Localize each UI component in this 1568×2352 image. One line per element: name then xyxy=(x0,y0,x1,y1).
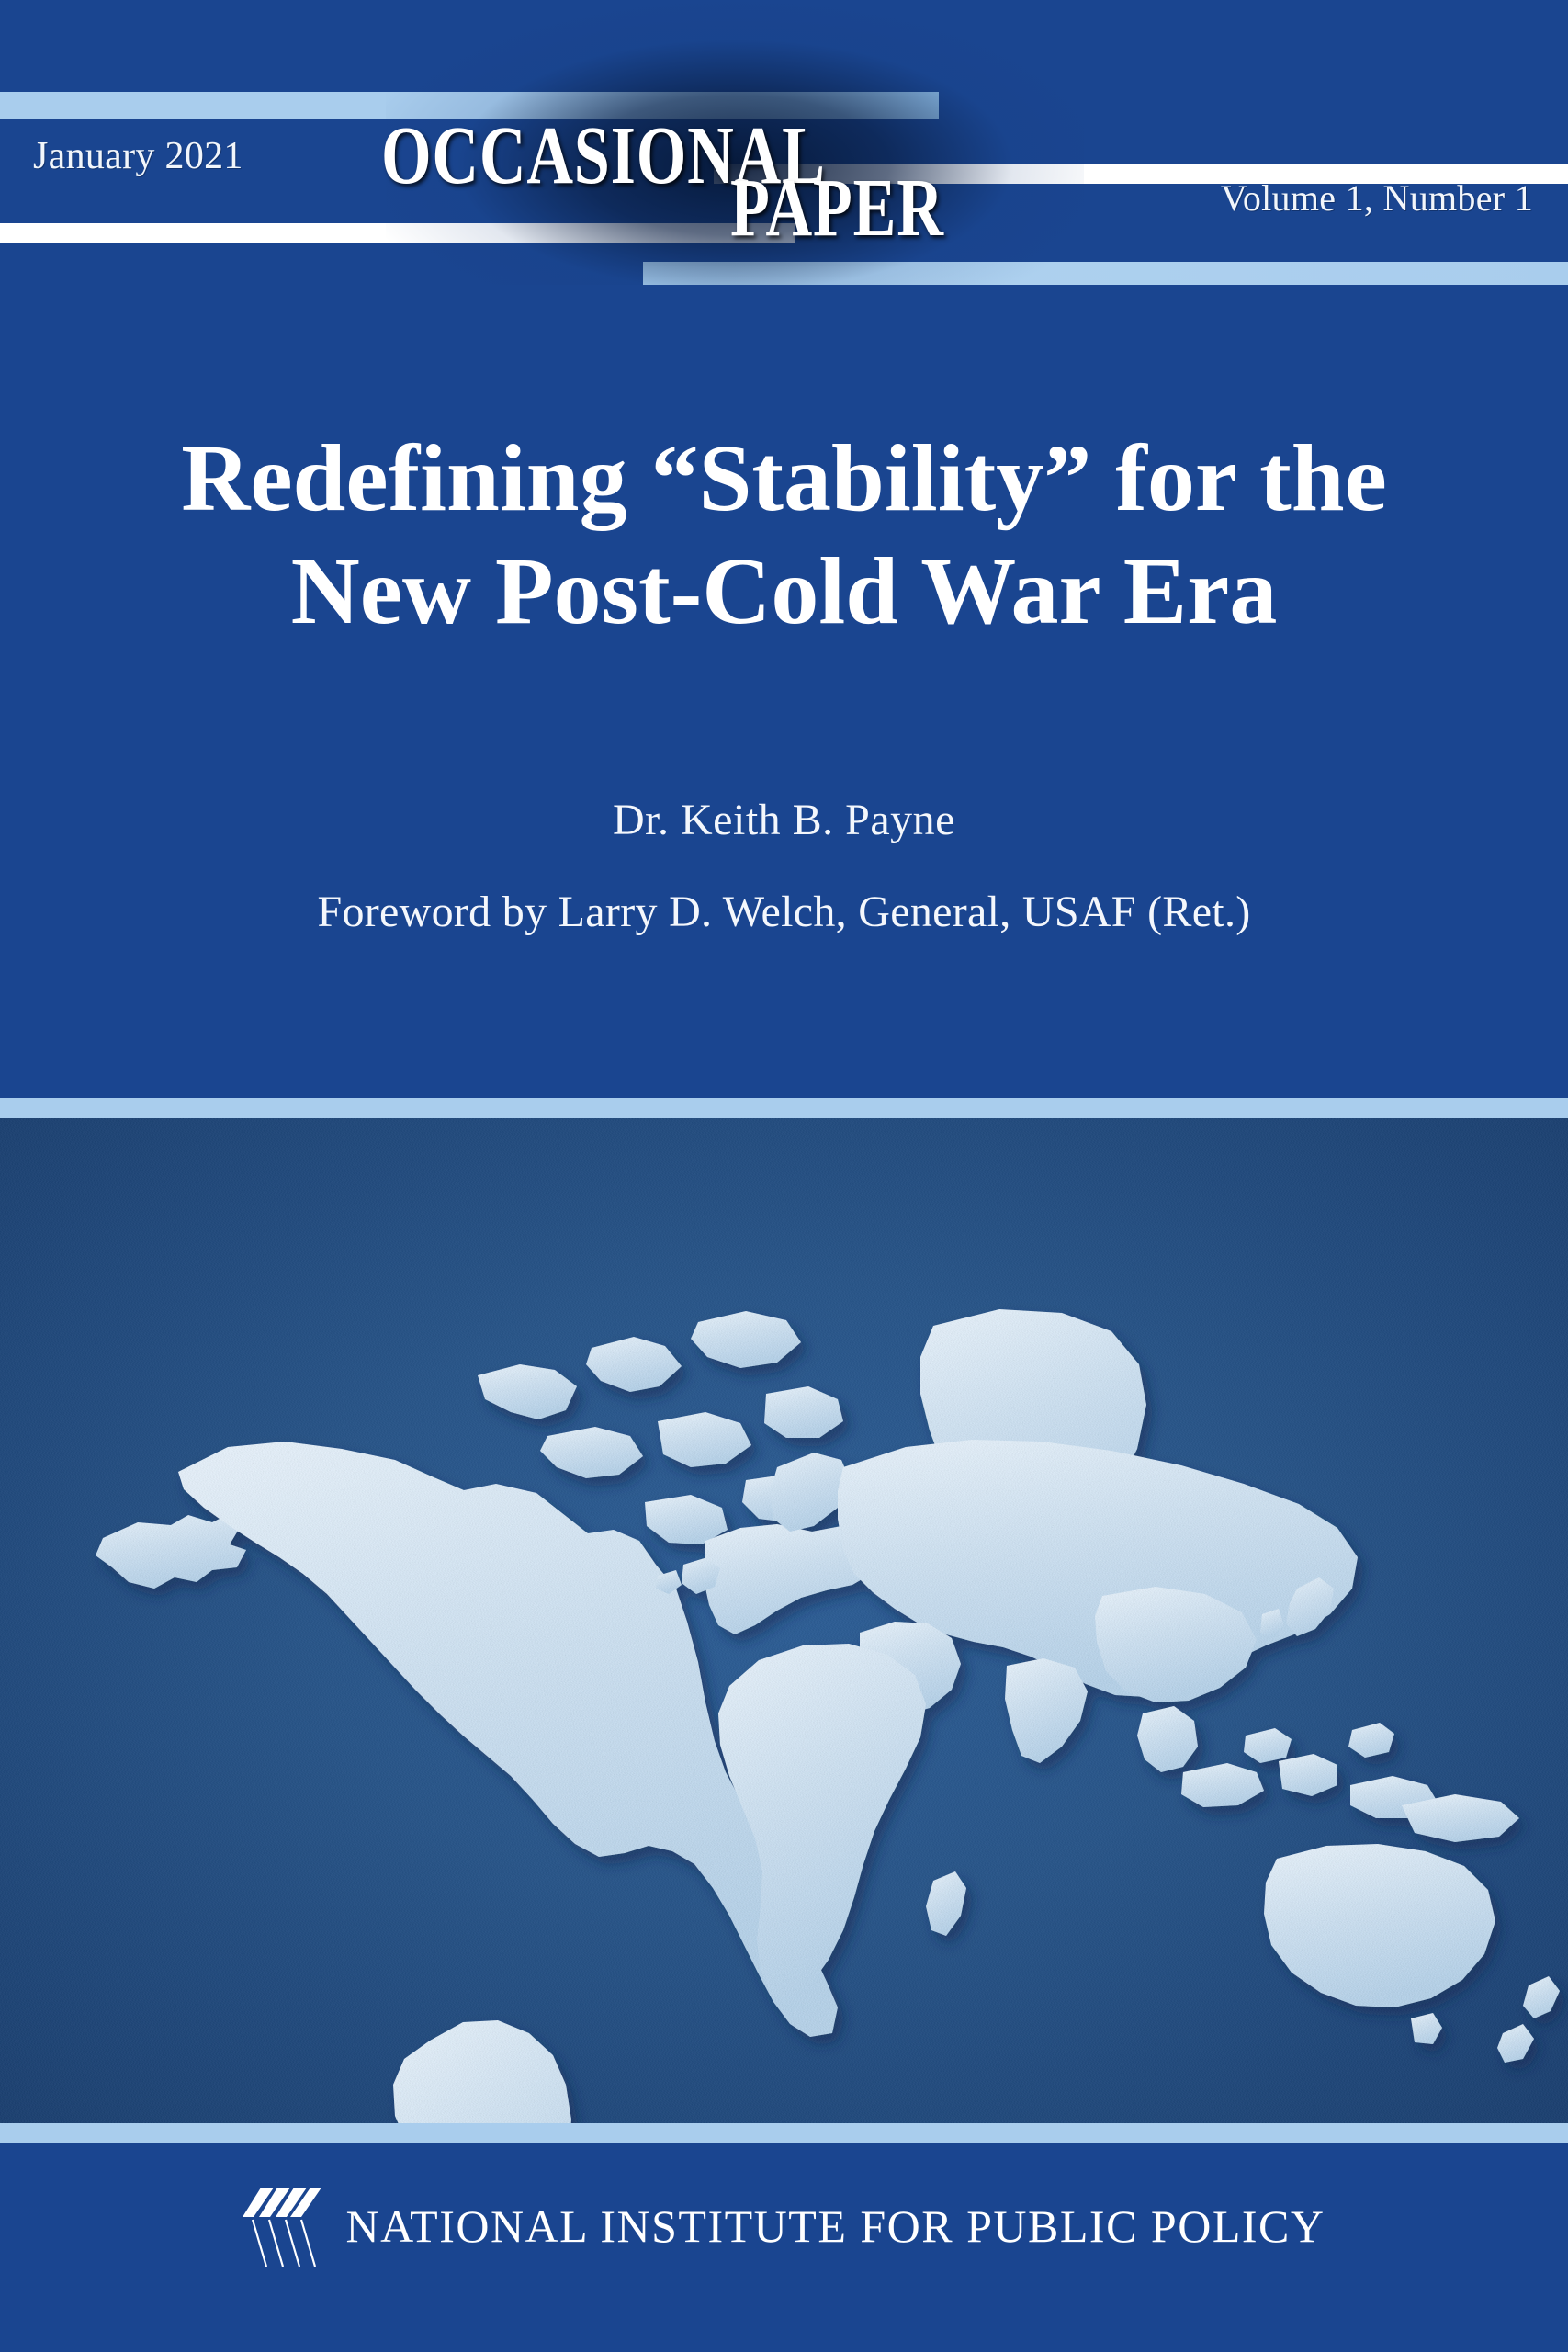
foreword-credit: Foreword by Larry D. Welch, General, USA… xyxy=(0,887,1568,937)
organization-name: NATIONAL INSTITUTE FOR PUBLIC POLICY xyxy=(345,2199,1325,2253)
world-map-image xyxy=(0,1118,1568,2123)
chevron-bars-logo-icon xyxy=(243,2182,321,2270)
header-rule-bottom-right xyxy=(643,262,1568,285)
divider-above-map xyxy=(0,1098,1568,1118)
series-logo-word-paper: PAPER xyxy=(730,167,944,250)
world-map-svg xyxy=(0,1118,1568,2123)
organization-lockup: NATIONAL INSTITUTE FOR PUBLIC POLICY xyxy=(0,2182,1568,2270)
document-cover: January 2021 OCCASIONAL PAPER Volume 1, … xyxy=(0,0,1568,2352)
header-rule-bottom-left xyxy=(0,223,795,243)
publication-date: January 2021 xyxy=(33,134,243,178)
title-block: Redefining “Stability” for the New Post-… xyxy=(0,285,1568,1098)
volume-number-label: Volume 1, Number 1 xyxy=(1221,176,1533,220)
page-title: Redefining “Stability” for the New Post-… xyxy=(0,423,1568,648)
divider-below-map xyxy=(0,2123,1568,2143)
cover-footer: NATIONAL INSTITUTE FOR PUBLIC POLICY xyxy=(0,2143,1568,2352)
author-name: Dr. Keith B. Payne xyxy=(0,795,1568,845)
cover-header-banner: January 2021 OCCASIONAL PAPER Volume 1, … xyxy=(0,0,1568,285)
